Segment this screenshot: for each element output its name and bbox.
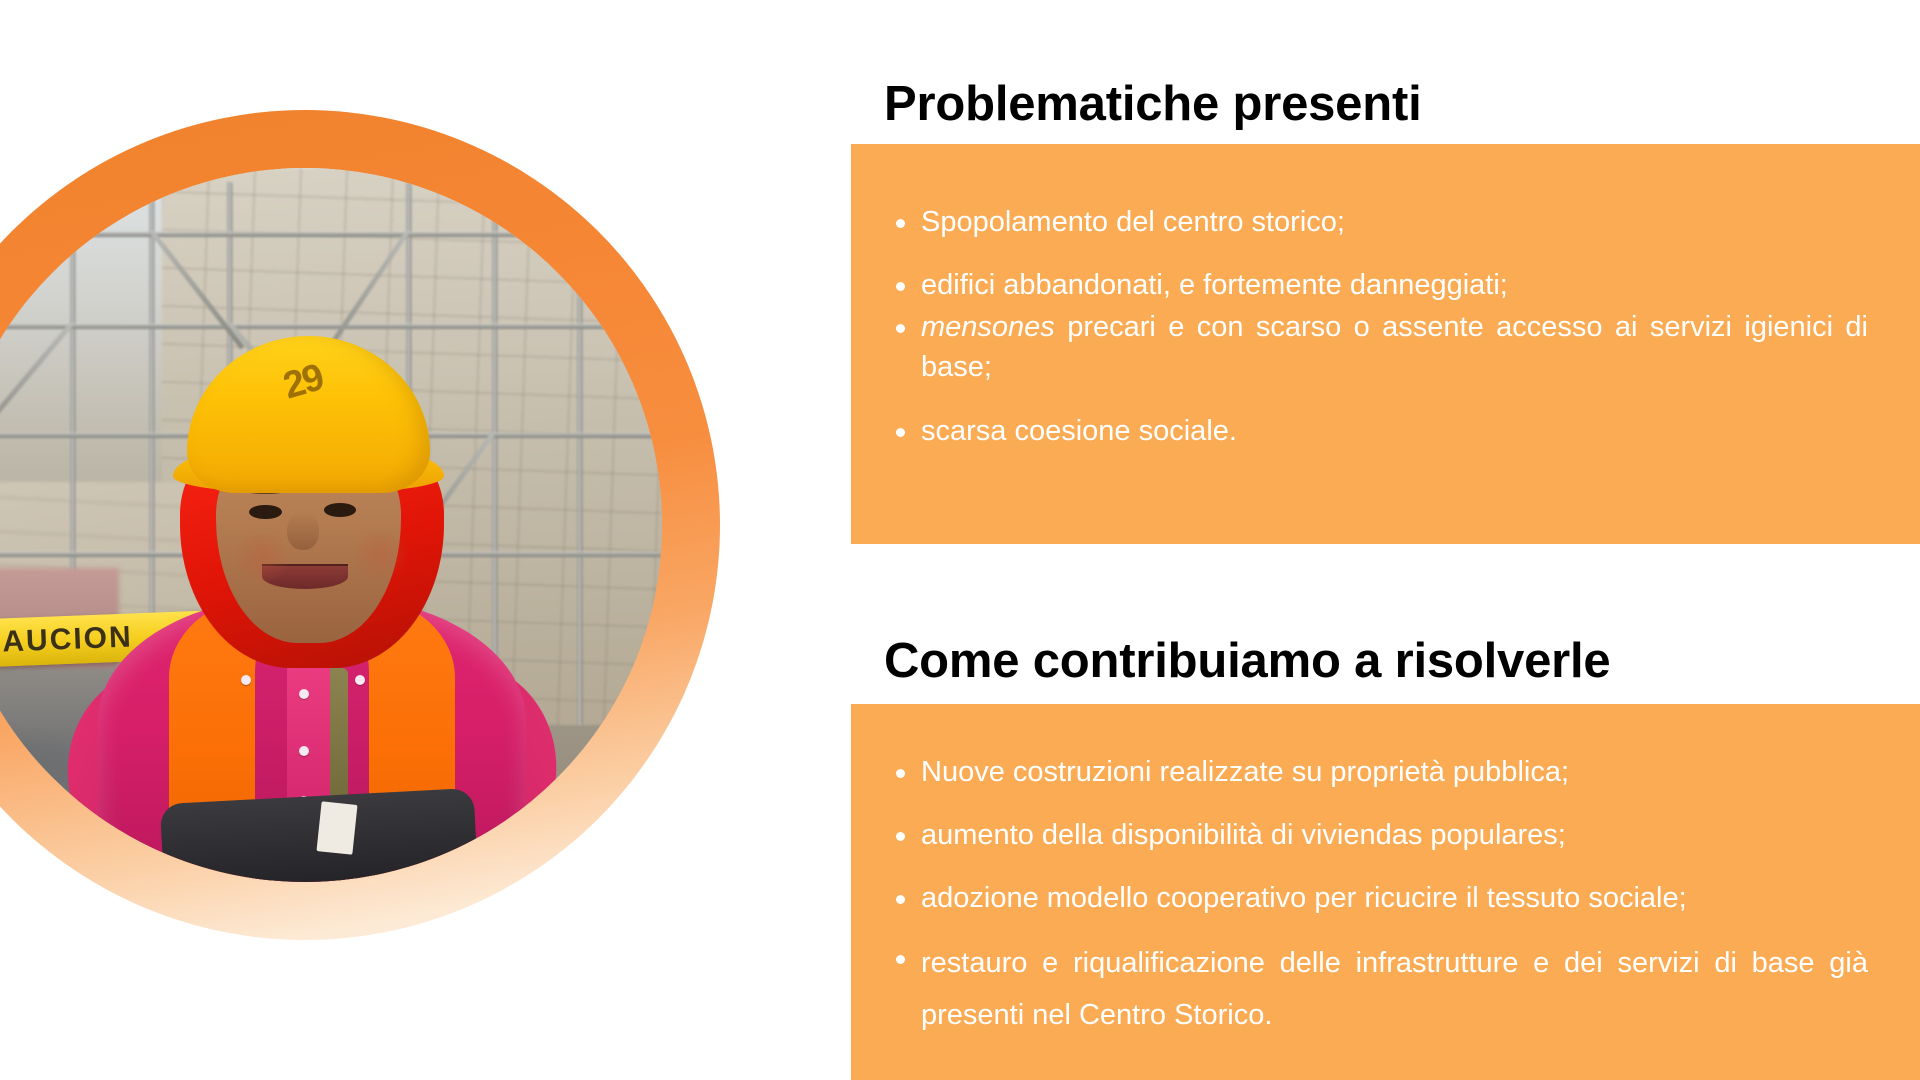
bullet-text: precari e con scarso o assente accesso a… [921, 311, 1868, 383]
bullet-text: restauro e riqualificazione delle infras… [921, 947, 1868, 1031]
section-2-heading: Come contribuiamo a risolverle [884, 633, 1611, 689]
list-item: Nuove costruzioni realizzate su propriet… [870, 752, 1868, 792]
problems-bullet-list: Spopolamento del centro storico; edifici… [851, 202, 1920, 451]
slide-canvas: PRECAUCION [0, 0, 1920, 1080]
solutions-bullet-list: Nuove costruzioni realizzate su propriet… [851, 752, 1920, 1041]
bullet-emphasis: mensones [921, 311, 1055, 343]
list-item: adozione modello cooperativo per ricucir… [870, 878, 1868, 918]
list-item: edifici abbandonati, e fortemente danneg… [870, 265, 1868, 305]
section-1-heading: Problematiche presenti [884, 76, 1422, 132]
bullet-text: edifici abbandonati, e fortemente danneg… [921, 269, 1508, 301]
bullet-text: Nuove costruzioni realizzate su propriet… [921, 756, 1569, 788]
section-1-panel: Spopolamento del centro storico; edifici… [851, 144, 1920, 544]
list-item: mensones precari e con scarso o assente … [870, 307, 1868, 387]
bullet-text: scarsa coesione sociale. [921, 415, 1237, 447]
section-2-panel: Nuove costruzioni realizzate su propriet… [851, 704, 1920, 1080]
bullet-text: aumento della disponibilità di viviendas… [921, 819, 1566, 851]
content-column: Problematiche presenti Spopolamento del … [0, 0, 1920, 1080]
bullet-text: adozione modello cooperativo per ricucir… [921, 882, 1687, 914]
list-item: restauro e riqualificazione delle infras… [870, 938, 1868, 1041]
list-item: Spopolamento del centro storico; [870, 202, 1868, 242]
list-item: scarsa coesione sociale. [870, 411, 1868, 451]
bullet-text: Spopolamento del centro storico; [921, 206, 1345, 238]
list-item: aumento della disponibilità di viviendas… [870, 815, 1868, 855]
